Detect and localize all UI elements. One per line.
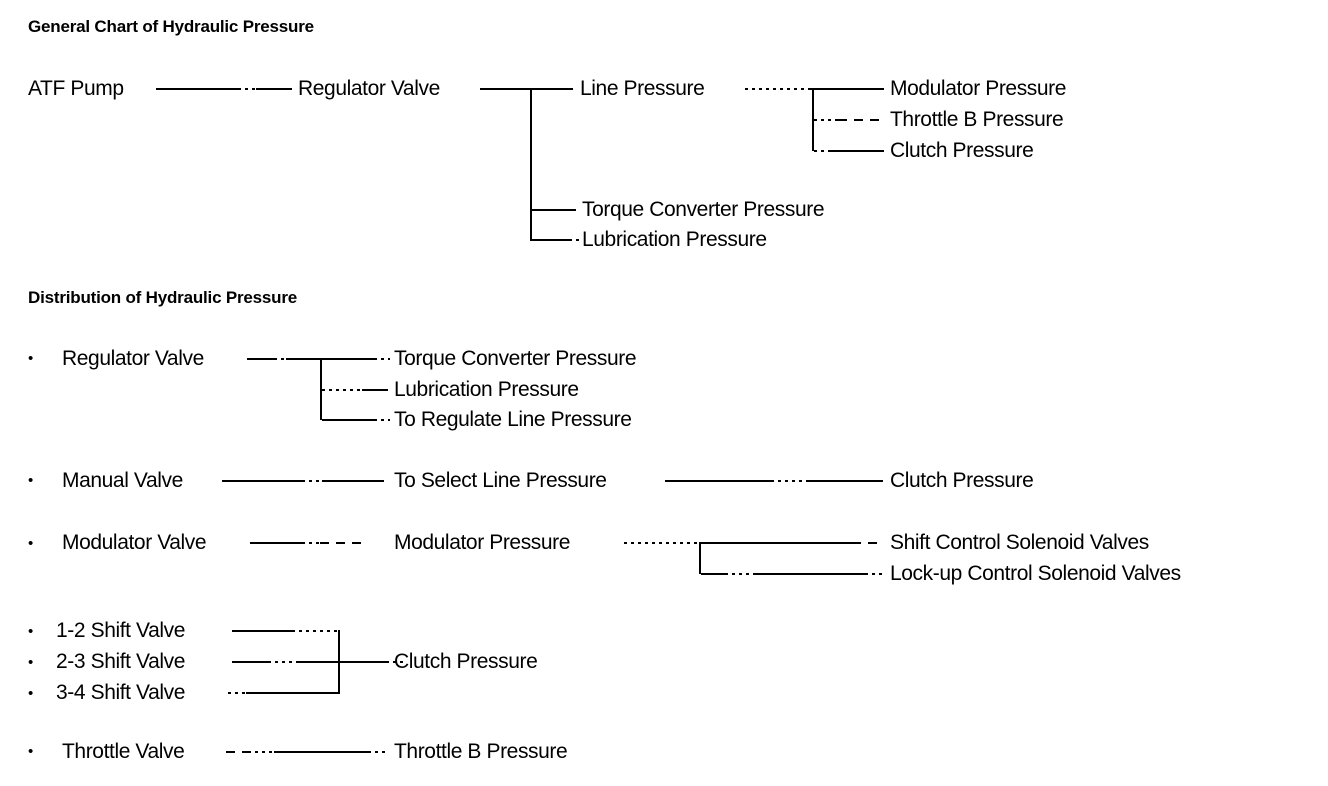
- bullet-modulator-valve: •: [28, 536, 33, 551]
- bullet-2-3-shift-valve: •: [28, 655, 33, 670]
- node-line-pressure: Line Pressure: [580, 78, 704, 99]
- connector-modulator-out-b: [302, 542, 320, 544]
- bullet-throttle-valve: •: [28, 744, 33, 759]
- connector-throttle-out-d: [368, 751, 388, 753]
- node-to-regulate-line-pressure: To Regulate Line Pressure: [394, 409, 631, 430]
- bullet-manual-valve: •: [28, 473, 33, 488]
- connector-3-4-shift-a: [228, 692, 246, 694]
- connector-manual-out-c: [322, 480, 384, 482]
- node-manual-valve: Manual Valve: [62, 470, 183, 491]
- connector-modulator-fan-bottom-b: [725, 573, 755, 575]
- node-clutch-pressure-shift: Clutch Pressure: [394, 651, 537, 672]
- connector-throttle-out-b: [248, 751, 274, 753]
- connector-regulator-out-d: [374, 358, 390, 360]
- connector-modulator-out-c: [320, 542, 368, 544]
- node-torque-converter-pressure-distribution: Torque Converter Pressure: [394, 348, 636, 369]
- bullet-regulator-valve: •: [28, 351, 33, 366]
- trunk-modulator-valve: [699, 542, 701, 574]
- connector-regulator-to-lubrication-solid: [362, 389, 388, 391]
- node-modulator-pressure-general: Modulator Pressure: [890, 78, 1066, 99]
- connector-atf-to-regulator-a: [156, 88, 238, 90]
- connector-regulator-to-regulate-line-solid: [322, 419, 374, 421]
- section-heading-general-chart: General Chart of Hydraulic Pressure: [28, 17, 314, 37]
- connector-2-3-shift-a: [232, 661, 268, 663]
- connector-regulator-to-regulate-line-dot: [374, 419, 390, 421]
- node-torque-converter-pressure-general: Torque Converter Pressure: [582, 199, 824, 220]
- connector-trunk-to-lubrication: [531, 239, 569, 241]
- connector-modulator-fan-top-dash: [852, 542, 884, 544]
- connector-2-3-shift-b: [268, 661, 296, 663]
- connector-regulator-to-line: [480, 88, 573, 90]
- connector-modulator-fan-top-solid: [700, 542, 852, 544]
- node-regulator-valve-general: Regulator Valve: [298, 78, 440, 99]
- connector-1-2-shift-b: [292, 630, 340, 632]
- connector-line-to-modulator: [811, 88, 884, 90]
- connector-regulator-out-b: [274, 358, 286, 360]
- connector-1-2-shift-a: [232, 630, 292, 632]
- connector-regulator-out-a: [247, 358, 274, 360]
- node-shift-control-solenoid-valves: Shift Control Solenoid Valves: [890, 532, 1149, 553]
- connector-throttle-out-a: [226, 751, 248, 753]
- node-modulator-valve: Modulator Valve: [62, 532, 206, 553]
- node-lock-up-control-solenoid-valves: Lock-up Control Solenoid Valves: [890, 563, 1181, 584]
- connector-modulator-to-fan-dotted: [624, 542, 702, 544]
- connector-modulator-out-a: [250, 542, 302, 544]
- connector-fan-to-clutch-dotted: [814, 150, 828, 152]
- bullet-3-4-shift-valve: •: [28, 686, 33, 701]
- node-clutch-pressure-manual: Clutch Pressure: [890, 470, 1033, 491]
- connector-atf-to-regulator-c: [256, 88, 292, 90]
- node-2-3-shift-valve: 2-3 Shift Valve: [56, 651, 185, 672]
- connector-3-4-shift-b: [246, 692, 340, 694]
- connector-line-to-fan-dotted: [745, 88, 811, 90]
- connector-select-to-clutch-c: [809, 480, 883, 482]
- connector-trunk-to-torque-converter: [531, 209, 576, 211]
- connector-select-to-clutch-a: [665, 480, 771, 482]
- connector-2-3-shift-c: [296, 661, 386, 663]
- bullet-1-2-shift-valve: •: [28, 624, 33, 639]
- connector-fan-to-throttle-dashed: [838, 119, 884, 121]
- connector-trunk-to-lubrication-dot: [569, 239, 579, 241]
- node-to-select-line-pressure: To Select Line Pressure: [394, 470, 607, 491]
- node-throttle-b-pressure-distribution: Throttle B Pressure: [394, 741, 567, 762]
- connector-manual-out-b: [302, 480, 322, 482]
- node-3-4-shift-valve: 3-4 Shift Valve: [56, 682, 185, 703]
- connector-atf-to-regulator-b: [238, 88, 256, 90]
- node-lubrication-pressure-general: Lubrication Pressure: [582, 229, 767, 250]
- connector-modulator-fan-bottom-c: [755, 573, 865, 575]
- node-lubrication-pressure-distribution: Lubrication Pressure: [394, 379, 579, 400]
- connector-manual-out-a: [222, 480, 302, 482]
- node-atf-pump: ATF Pump: [28, 78, 124, 99]
- node-clutch-pressure-general: Clutch Pressure: [890, 140, 1033, 161]
- connector-select-to-clutch-b: [771, 480, 809, 482]
- diagram-canvas: General Chart of Hydraulic Pressure ATF …: [0, 0, 1328, 786]
- node-1-2-shift-valve: 1-2 Shift Valve: [56, 620, 185, 641]
- connector-modulator-fan-bottom-d: [865, 573, 884, 575]
- node-modulator-pressure-distribution: Modulator Pressure: [394, 532, 570, 553]
- trunk-shift-valves: [338, 630, 340, 692]
- connector-fan-to-throttle-dotted: [814, 119, 838, 121]
- trunk-regulator-downward: [530, 88, 532, 241]
- node-regulator-valve-distribution: Regulator Valve: [62, 348, 204, 369]
- node-throttle-valve: Throttle Valve: [62, 741, 184, 762]
- connector-throttle-out-c: [274, 751, 368, 753]
- connector-fan-to-clutch-solid: [828, 150, 884, 152]
- connector-regulator-to-lubrication-dot: [322, 389, 362, 391]
- node-throttle-b-pressure-general: Throttle B Pressure: [890, 109, 1063, 130]
- connector-regulator-out-c: [286, 358, 374, 360]
- connector-modulator-fan-bottom-a: [701, 573, 725, 575]
- section-heading-distribution: Distribution of Hydraulic Pressure: [28, 288, 297, 308]
